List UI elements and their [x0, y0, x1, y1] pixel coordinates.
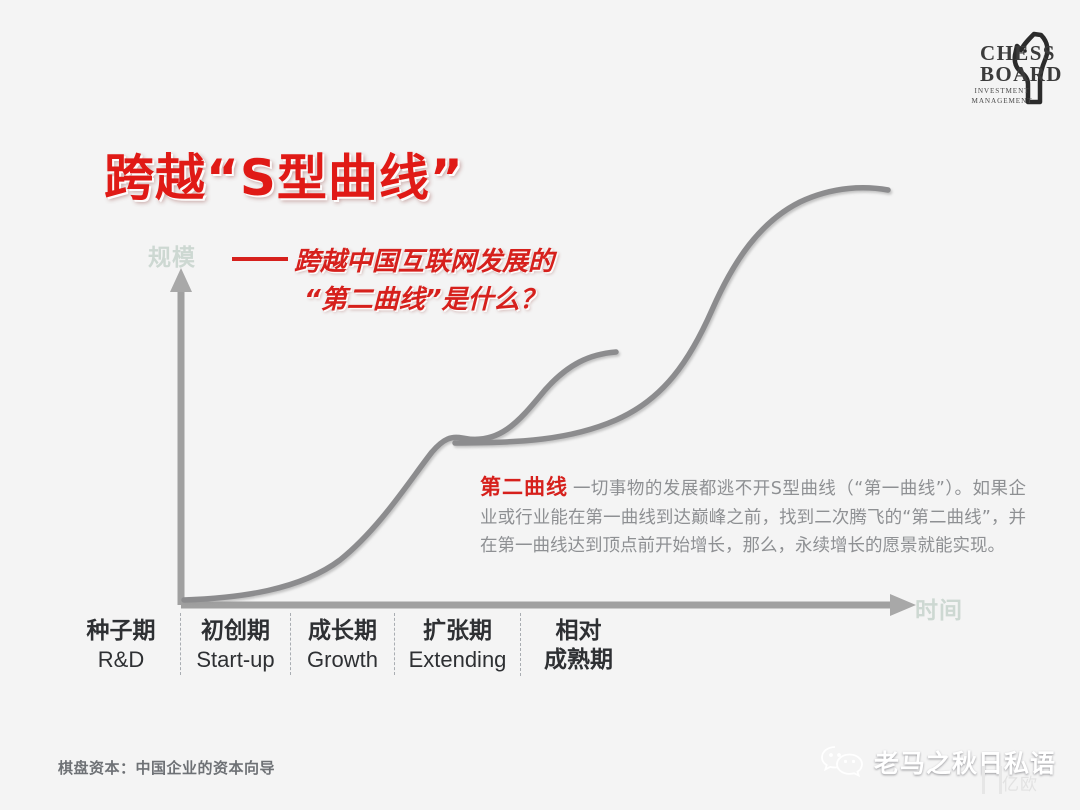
stage-item-0: 种子期 R&D	[62, 613, 180, 675]
stage-label-cn: 种子期	[74, 617, 168, 646]
footer-source-text: 棋盘资本：中国企业的资本向导	[58, 757, 275, 778]
second-curve-line	[455, 188, 888, 443]
stage-label-en: Growth	[303, 646, 382, 674]
s-curve-chart	[0, 0, 1080, 810]
stage-label-en: Start-up	[193, 646, 278, 674]
x-axis-label: 时间	[915, 591, 963, 625]
stage-label-en: R&D	[74, 646, 168, 674]
stage-label-en: Extending	[407, 646, 508, 674]
second-curve-callout: 第二曲线一切事物的发展都逃不开S型曲线（“第一曲线”）。如果企业或行业能在第一曲…	[480, 470, 1026, 561]
stage-label-cn: 扩张期	[407, 617, 508, 646]
y-axis-label: 规模	[148, 238, 196, 272]
stage-label-cn: 相对	[533, 617, 624, 646]
stage-item-3: 扩张期 Extending	[394, 613, 520, 675]
callout-heading: 第二曲线	[480, 475, 568, 499]
watermark-text: 亿欧	[1002, 770, 1038, 795]
stage-label-cn-2: 成熟期	[533, 646, 624, 675]
stage-band: 种子期 R&D 初创期 Start-up 成长期 Growth 扩张期 Exte…	[62, 613, 636, 685]
wechat-icon	[820, 744, 864, 780]
stage-item-1: 初创期 Start-up	[180, 613, 290, 675]
stage-item-4: 相对 成熟期	[520, 613, 636, 676]
watermark-bars-icon	[982, 766, 1002, 794]
slide-canvas: CHESS BOARD INVESTMENT MANAGEMENT 跨越“S型曲…	[0, 0, 1080, 810]
y-axis	[170, 268, 192, 605]
stage-label-cn: 成长期	[303, 617, 382, 646]
stage-item-2: 成长期 Growth	[290, 613, 394, 675]
stage-label-cn: 初创期	[193, 617, 278, 646]
